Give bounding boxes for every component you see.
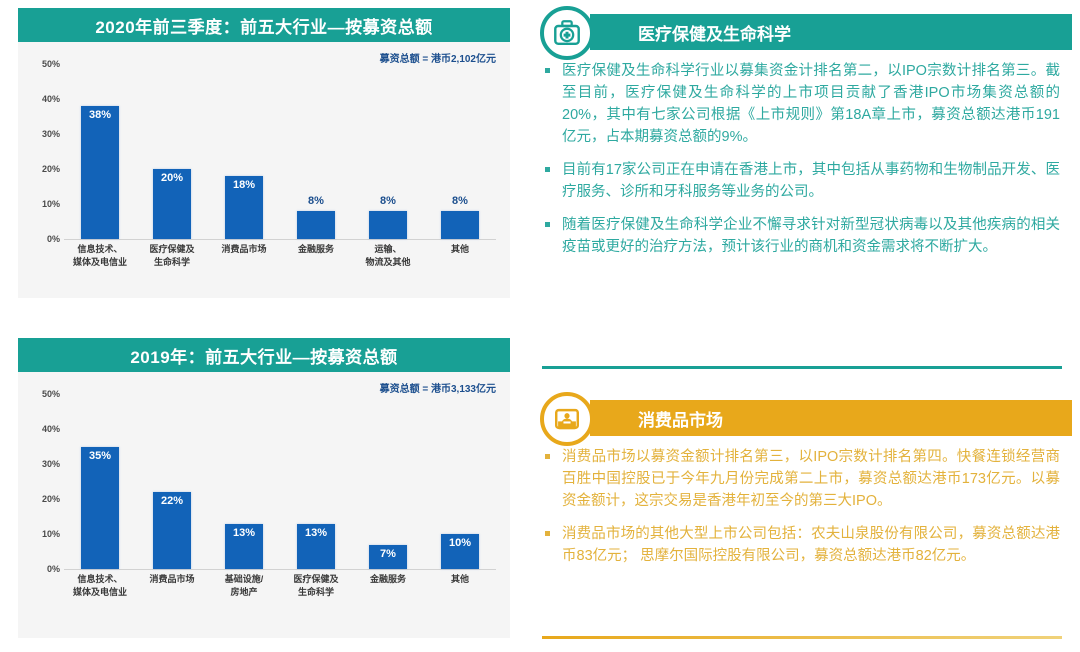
bullet-marker-icon — [545, 531, 550, 536]
bullet-marker-icon — [545, 68, 550, 73]
chart-bar[interactable]: 35% — [81, 447, 119, 570]
chart-bar[interactable]: 22% — [153, 492, 191, 569]
bar-slot: 20% — [153, 64, 191, 239]
charts-column: 2020年前三季度：前五大行业—按募资总额 募资总额 = 港币2,102亿元 5… — [0, 0, 520, 652]
bar-slot: 13% — [297, 394, 335, 569]
chart-bar[interactable]: 8% — [369, 211, 407, 239]
bar-slot: 22% — [153, 394, 191, 569]
chart-card-2019: 2019年：前五大行业—按募资总额 募资总额 = 港币3,133亿元 50%40… — [18, 338, 510, 638]
bar-value-label: 13% — [297, 527, 335, 539]
bars-area-2019: 35%22%13%13%7%10% — [64, 394, 496, 570]
y-axis-2019: 50%40%30%20%10%0% — [26, 394, 60, 569]
bar-value-label: 22% — [153, 495, 191, 507]
divider-healthcare — [542, 366, 1062, 369]
y-axis-tick: 30% — [42, 459, 60, 469]
bullet-text: 医疗保健及生命科学行业以募集资金计排名第二，以IPO宗数计排名第三。截至目前，医… — [562, 60, 1080, 148]
bullet-item: 目前有17家公司正在申请在香港上市，其中包括从事药物和生物制品开发、医疗服务、诊… — [520, 159, 1080, 203]
bullet-text: 随着医疗保健及生命科学企业不懈寻求针对新型冠状病毒以及其他疾病的相关疫苗或更好的… — [562, 214, 1080, 258]
section-consumer: 消费品市场 消费品市场以募资金额计排名第三，以IPO宗数计排名第四。快餐连锁经营… — [520, 390, 1080, 578]
y-axis-2020: 50%40%30%20%10%0% — [26, 64, 60, 239]
bar-value-label: 8% — [357, 195, 419, 207]
bullet-marker-icon — [545, 222, 550, 227]
slide-page: 2020年前三季度：前五大行业—按募资总额 募资总额 = 港币2,102亿元 5… — [0, 0, 1080, 652]
chart-card-2020: 2020年前三季度：前五大行业—按募资总额 募资总额 = 港币2,102亿元 5… — [18, 8, 510, 298]
plot-area-2020: 50%40%30%20%10%0% 38%20%18%8%8%8% 信息技术、媒… — [18, 60, 502, 298]
bar-slot: 8% — [297, 64, 335, 239]
bar-value-label: 35% — [81, 450, 119, 462]
section-title-consumer: 消费品市场 — [590, 400, 1072, 436]
bar-slot: 8% — [369, 64, 407, 239]
y-axis-tick: 20% — [42, 164, 60, 174]
y-axis-tick: 50% — [42, 389, 60, 399]
y-axis-tick: 10% — [42, 199, 60, 209]
chart-bar[interactable]: 13% — [297, 524, 335, 570]
bar-value-label: 7% — [369, 548, 407, 560]
bullet-text: 目前有17家公司正在申请在香港上市，其中包括从事药物和生物制品开发、医疗服务、诊… — [562, 159, 1080, 203]
chart-bar[interactable]: 8% — [441, 211, 479, 239]
bullet-text: 消费品市场的其他大型上市公司包括：农夫山泉股份有限公司，募资总额达港币83亿元；… — [562, 523, 1080, 567]
chart-bar[interactable]: 8% — [297, 211, 335, 239]
category-label: 其他 — [412, 243, 508, 256]
chart-bar[interactable]: 10% — [441, 534, 479, 569]
category-labels-2020: 信息技术、媒体及电信业医疗保健及生命科学消费品市场金融服务运输、物流及其他其他 — [64, 243, 496, 295]
bar-value-label: 8% — [285, 195, 347, 207]
bullet-item: 消费品市场的其他大型上市公司包括：农夫山泉股份有限公司，募资总额达港币83亿元；… — [520, 523, 1080, 567]
bar-slot: 8% — [441, 64, 479, 239]
bar-value-label: 8% — [429, 195, 491, 207]
bullet-item: 医疗保健及生命科学行业以募集资金计排名第二，以IPO宗数计排名第三。截至目前，医… — [520, 60, 1080, 148]
divider-consumer — [542, 636, 1062, 639]
bar-slot: 7% — [369, 394, 407, 569]
y-axis-tick: 20% — [42, 494, 60, 504]
bullet-marker-icon — [545, 454, 550, 459]
chart-bar[interactable]: 18% — [225, 176, 263, 239]
bullet-marker-icon — [545, 167, 550, 172]
y-axis-tick: 40% — [42, 94, 60, 104]
bar-slot: 13% — [225, 394, 263, 569]
chart-title-2020: 2020年前三季度：前五大行业—按募资总额 — [18, 8, 510, 42]
y-axis-tick: 10% — [42, 529, 60, 539]
category-label: 其他 — [412, 573, 508, 586]
bar-slot: 38% — [81, 64, 119, 239]
section-healthcare: 医疗保健及生命科学 医疗保健及生命科学行业以募集资金计排名第二，以IPO宗数计排… — [520, 4, 1080, 269]
section-header-consumer: 消费品市场 — [520, 390, 1080, 446]
bar-slot: 10% — [441, 394, 479, 569]
y-axis-tick: 30% — [42, 129, 60, 139]
chart-body-2019: 募资总额 = 港币3,133亿元 50%40%30%20%10%0% 35%22… — [18, 372, 510, 638]
bullet-item: 随着医疗保健及生命科学企业不懈寻求针对新型冠状病毒以及其他疾病的相关疫苗或更好的… — [520, 214, 1080, 258]
bullet-list-healthcare: 医疗保健及生命科学行业以募集资金计排名第二，以IPO宗数计排名第三。截至目前，医… — [520, 60, 1080, 258]
medical-bag-icon — [540, 6, 594, 60]
y-axis-tick: 40% — [42, 424, 60, 434]
section-header-healthcare: 医疗保健及生命科学 — [520, 4, 1080, 60]
bullet-item: 消费品市场以募资金额计排名第三，以IPO宗数计排名第四。快餐连锁经营商百胜中国控… — [520, 446, 1080, 512]
bar-slot: 18% — [225, 64, 263, 239]
plot-area-2019: 50%40%30%20%10%0% 35%22%13%13%7%10% 信息技术… — [18, 390, 502, 638]
bar-value-label: 20% — [153, 172, 191, 184]
commentary-column: 医疗保健及生命科学 医疗保健及生命科学行业以募集资金计排名第二，以IPO宗数计排… — [520, 0, 1080, 652]
bar-value-label: 10% — [441, 537, 479, 549]
chart-bar[interactable]: 13% — [225, 524, 263, 570]
bars-area-2020: 38%20%18%8%8%8% — [64, 64, 496, 240]
bar-slot: 35% — [81, 394, 119, 569]
bar-value-label: 13% — [225, 527, 263, 539]
bar-value-label: 38% — [81, 109, 119, 121]
category-labels-2019: 信息技术、媒体及电信业消费品市场基础设施/房地产医疗保健及生命科学金融服务其他 — [64, 573, 496, 625]
section-title-healthcare: 医疗保健及生命科学 — [590, 14, 1072, 50]
chart-bar[interactable]: 20% — [153, 169, 191, 239]
chart-bar[interactable]: 7% — [369, 545, 407, 570]
y-axis-tick: 50% — [42, 59, 60, 69]
bullet-list-consumer: 消费品市场以募资金额计排名第三，以IPO宗数计排名第四。快餐连锁经营商百胜中国控… — [520, 446, 1080, 567]
bullet-text: 消费品市场以募资金额计排名第三，以IPO宗数计排名第四。快餐连锁经营商百胜中国控… — [562, 446, 1080, 512]
chart-title-2019: 2019年：前五大行业—按募资总额 — [18, 338, 510, 372]
bar-value-label: 18% — [225, 179, 263, 191]
shopping-basket-icon — [540, 392, 594, 446]
chart-bar[interactable]: 38% — [81, 106, 119, 239]
chart-body-2020: 募资总额 = 港币2,102亿元 50%40%30%20%10%0% 38%20… — [18, 42, 510, 298]
